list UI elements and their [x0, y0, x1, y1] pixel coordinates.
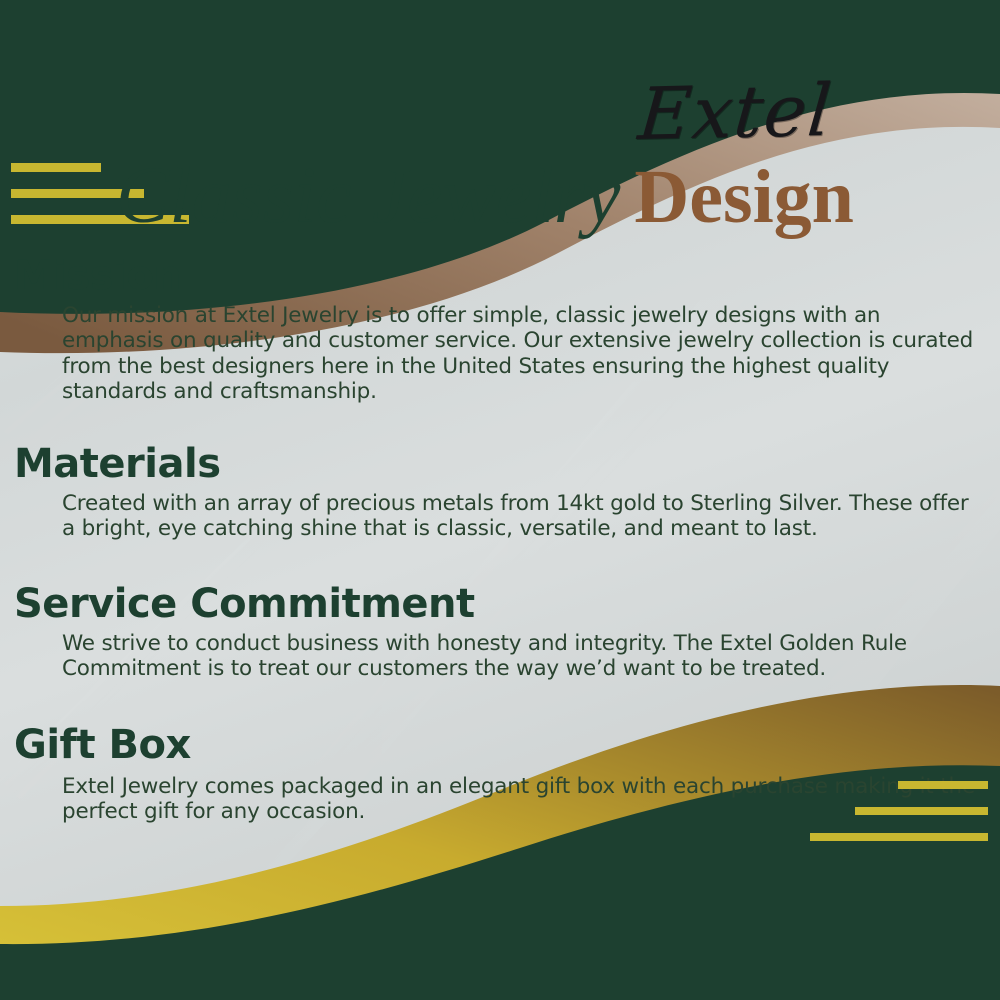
section-body: Created with an array of precious metals…: [62, 491, 986, 542]
gold-line-long: [810, 833, 988, 841]
title-secondary: Design: [634, 155, 854, 239]
title-primary: Classic Jewelry: [116, 152, 620, 240]
section-heading: Gift Box: [14, 723, 1000, 768]
section-mission: Mission Our mission at Extel Jewelry is …: [0, 254, 1000, 404]
section-heading: Mission: [14, 254, 1000, 299]
section-materials: Materials Created with an array of preci…: [0, 442, 1000, 542]
brand-script-logo: Extel: [636, 74, 835, 150]
gold-line-short: [898, 781, 988, 789]
section-body: We strive to conduct business with hones…: [62, 631, 986, 682]
poster-canvas: Extel Classic JewelryDesign Mission Our …: [0, 0, 1000, 1000]
section-service-commitment: Service Commitment We strive to conduct …: [0, 582, 1000, 682]
section-body: Our mission at Extel Jewelry is to offer…: [62, 303, 986, 404]
gold-line-medium: [855, 807, 988, 815]
decorative-lines-bottom-right: [810, 781, 988, 859]
section-heading: Materials: [14, 442, 1000, 487]
content-sections: Mission Our mission at Extel Jewelry is …: [0, 250, 1000, 825]
page-title: Classic JewelryDesign: [0, 156, 1000, 236]
section-heading: Service Commitment: [14, 582, 1000, 627]
